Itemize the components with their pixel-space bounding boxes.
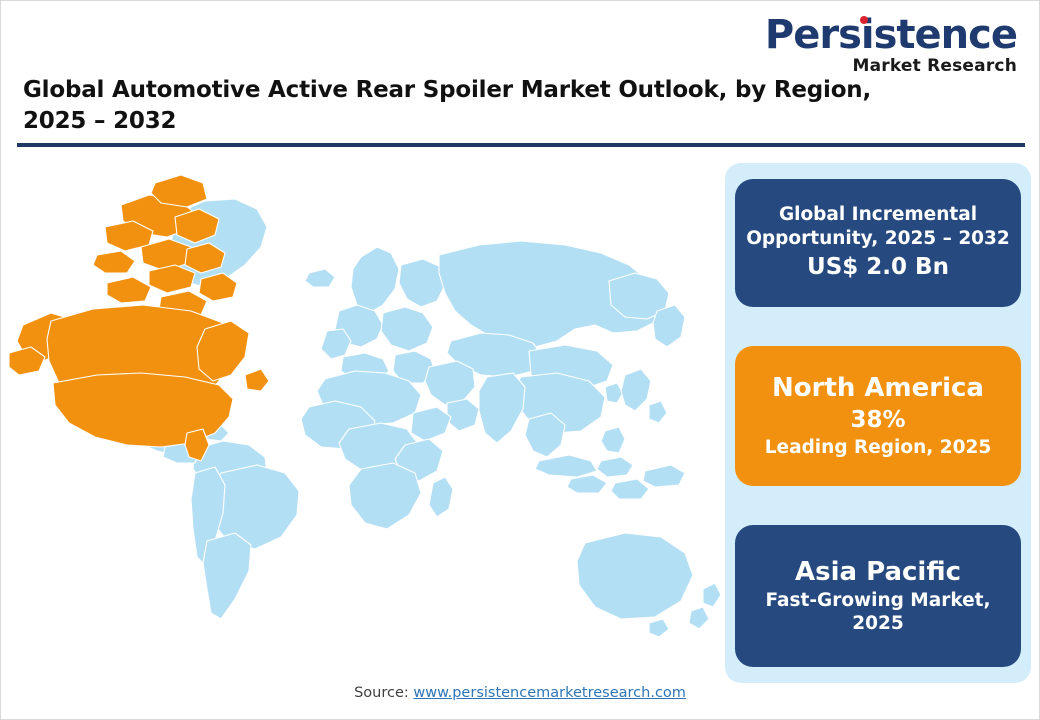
stat-card-1-line1: Global Incremental xyxy=(745,203,1011,227)
stat-card-3-caption-line2: 2025 xyxy=(745,612,1011,636)
world-map-svg xyxy=(9,161,721,671)
stat-card-fast-growing-market: Asia Pacific Fast-Growing Market, 2025 xyxy=(735,525,1021,667)
page-title: Global Automotive Active Rear Spoiler Ma… xyxy=(23,75,913,136)
source-attribution: Source: www.persistencemarketresearch.co… xyxy=(1,685,1039,701)
stat-card-1-value: US$ 2.0 Bn xyxy=(745,253,1011,283)
brand-name: Persistence xyxy=(765,15,1017,55)
source-link[interactable]: www.persistencemarketresearch.com xyxy=(413,685,686,701)
stat-card-3-caption-line1: Fast-Growing Market, xyxy=(745,589,1011,613)
brand-tagline: Market Research xyxy=(757,56,1017,76)
logo-dot-icon xyxy=(860,16,868,24)
world-map xyxy=(9,161,721,671)
stat-card-3-region: Asia Pacific xyxy=(745,556,1011,589)
stat-card-2-caption: Leading Region, 2025 xyxy=(745,436,1011,460)
stat-card-leading-region: North America 38% Leading Region, 2025 xyxy=(735,346,1021,486)
infographic-root: Persistence Market Research Global Autom… xyxy=(0,0,1040,720)
stat-card-2-share: 38% xyxy=(745,406,1011,436)
stat-card-2-region: North America xyxy=(745,372,1011,405)
source-label: Source: xyxy=(354,685,413,701)
stat-card-1-line2: Opportunity, 2025 – 2032 xyxy=(745,227,1011,251)
stats-panel: Global Incremental Opportunity, 2025 – 2… xyxy=(725,163,1031,683)
brand-logo: Persistence Market Research xyxy=(757,15,1017,76)
title-divider xyxy=(17,143,1025,147)
stat-card-incremental-opportunity: Global Incremental Opportunity, 2025 – 2… xyxy=(735,179,1021,307)
